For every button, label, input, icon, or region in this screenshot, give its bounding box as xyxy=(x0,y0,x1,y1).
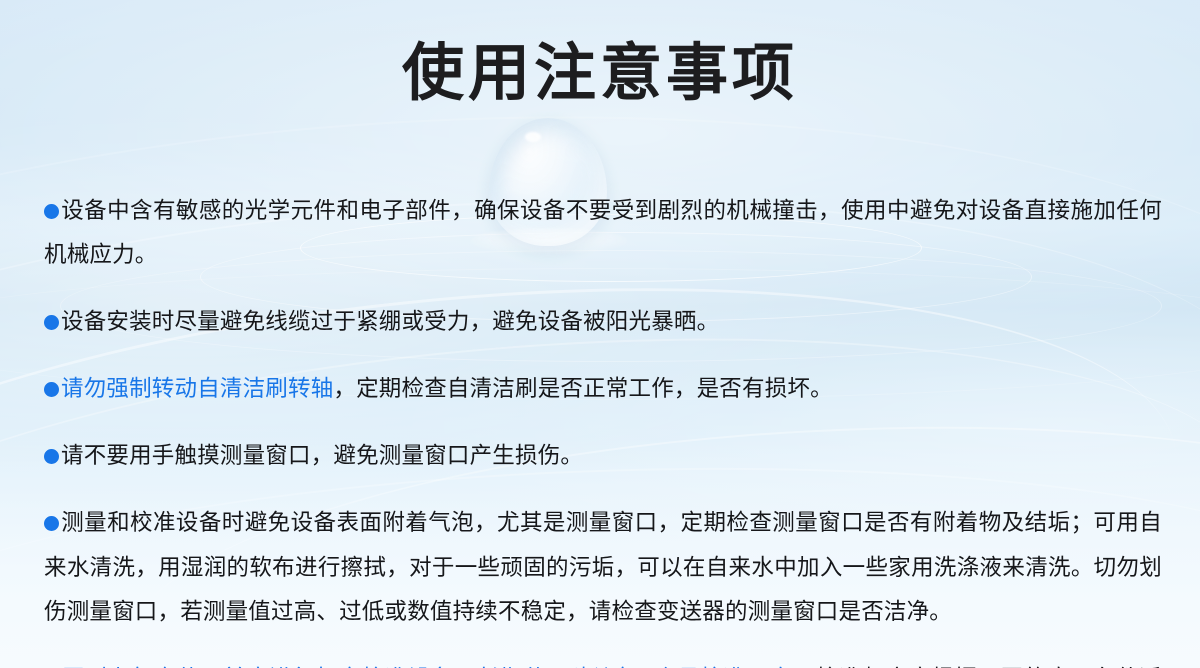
notes-list: 设备中含有敏感的光学元件和电子部件，确保设备不要受到剧烈的机械撞击，使用中避免对… xyxy=(44,166,1162,668)
note-text: 设备中含有敏感的光学元件和电子部件，确保设备不要受到剧烈的机械撞击，使用中避免对… xyxy=(44,198,1162,269)
bullet-icon xyxy=(44,204,59,219)
note-item: 请不要用手触摸测量窗口，避免测量窗口产生损伤。 xyxy=(44,434,1162,479)
note-text: ，定期检查自清洁刷是否正常工作，是否有损坏。 xyxy=(333,376,832,402)
note-item: 请勿强制转动自清洁刷转轴，定期检查自清洁刷是否正常工作，是否有损坏。 xyxy=(44,367,1162,412)
note-text: 测量和校准设备时避免设备表面附着气泡，尤其是测量窗口，定期检查测量窗口是否有附着… xyxy=(44,510,1162,625)
bullet-icon xyxy=(44,516,59,531)
bullet-icon xyxy=(44,449,59,464)
note-text: 请不要用手触摸测量窗口，避免测量窗口产生损伤。 xyxy=(61,443,583,469)
poster-content: 使用注意事项 设备中含有敏感的光学元件和电子部件，确保设备不要受到剧烈的机械撞击… xyxy=(0,0,1200,668)
page-title: 使用注意事项 xyxy=(0,34,1200,112)
bullet-icon xyxy=(44,382,59,397)
note-item: 原则上每次使用前应进行标定校准设备，长期使用建议每3个月校准一次，校准频度应根据… xyxy=(44,657,1162,668)
notice-poster: 使用注意事项 设备中含有敏感的光学元件和电子部件，确保设备不要受到剧烈的机械撞击… xyxy=(0,0,1200,668)
note-text: 设备安装时尽量避免线缆过于紧绷或受力，避免设备被阳光暴晒。 xyxy=(61,309,719,335)
bullet-icon xyxy=(44,315,59,330)
note-item: 设备安装时尽量避免线缆过于紧绷或受力，避免设备被阳光暴晒。 xyxy=(44,300,1162,345)
note-item: 测量和校准设备时避免设备表面附着气泡，尤其是测量窗口，定期检查测量窗口是否有附着… xyxy=(44,501,1162,635)
note-item: 设备中含有敏感的光学元件和电子部件，确保设备不要受到剧烈的机械撞击，使用中避免对… xyxy=(44,189,1162,278)
note-text-highlight: 请勿强制转动自清洁刷转轴 xyxy=(61,376,333,402)
